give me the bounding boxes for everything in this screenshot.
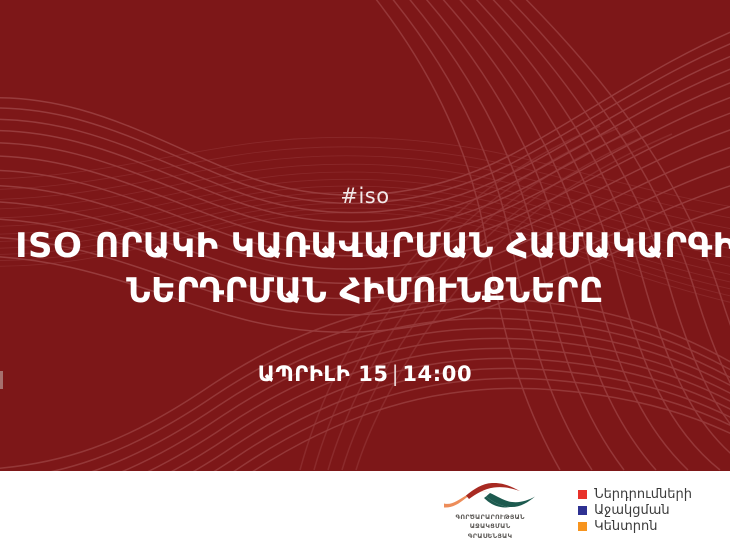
blue-square-icon bbox=[578, 506, 587, 515]
isc-label-1: Ներդրումների bbox=[594, 488, 692, 501]
isc-label-3: Կենտրոն bbox=[594, 520, 657, 533]
wordmark-line-2: ԱՋԱԿՑՄԱՆ bbox=[455, 522, 524, 531]
footer-logo-group: ԳՈՐԾԱՐԱՐՈՒԹՅԱՆ ԱՋԱԿՑՄԱՆ ԳՐԱՍԵՆՅԱԿ Ներդրո… bbox=[430, 480, 730, 540]
wordmark-line-3: ԳՐԱՍԵՆՅԱԿ bbox=[455, 532, 524, 541]
event-datetime: ԱՊՐԻԼԻ 15|14:00 bbox=[258, 364, 472, 385]
investment-support-centre-logo: Ներդրումների Աջակցման Կենտրոն bbox=[578, 488, 692, 534]
footer-bar: ԳՈՐԾԱՐԱՐՈՒԹՅԱՆ ԱՋԱԿՑՄԱՆ ԳՐԱՍԵՆՅԱԿ Ներդրո… bbox=[0, 471, 730, 550]
business-support-office-logo: ԳՈՐԾԱՐԱՐՈՒԹՅԱՆ ԱՋԱԿՑՄԱՆ ԳՐԱՍԵՆՅԱԿ bbox=[430, 480, 550, 540]
event-time: 14:00 bbox=[402, 362, 472, 386]
isc-row-2: Աջակցման bbox=[578, 504, 692, 518]
isc-row-3: Կենտրոն bbox=[578, 520, 692, 534]
red-square-icon bbox=[578, 490, 587, 499]
wordmark-line-1: ԳՈՐԾԱՐԱՐՈՒԹՅԱՆ bbox=[455, 513, 524, 522]
event-announcement-slide: #iso ISO ՈՐԱԿԻ ԿԱՌԱՎԱՐՄԱՆ ՀԱՄԱԿԱՐԳԻ ՆԵՐԴ… bbox=[0, 0, 730, 550]
title-line-2: ՆԵՐԴՐՄԱՆ ՀԻՄՈՒՆՔՆԵՐԸ bbox=[15, 269, 715, 314]
datetime-separator: | bbox=[389, 362, 403, 386]
orange-square-icon bbox=[578, 522, 587, 531]
hashtag-label: #iso bbox=[340, 186, 389, 207]
isc-label-2: Աջակցման bbox=[594, 504, 670, 517]
event-date: ԱՊՐԻԼԻ 15 bbox=[258, 362, 389, 386]
business-support-office-wordmark: ԳՈՐԾԱՐԱՐՈՒԹՅԱՆ ԱՋԱԿՑՄԱՆ ԳՐԱՍԵՆՅԱԿ bbox=[455, 513, 524, 540]
title-line-1: ISO ՈՐԱԿԻ ԿԱՌԱՎԱՐՄԱՆ ՀԱՄԱԿԱՐԳԻ bbox=[15, 224, 715, 269]
isc-row-1: Ներդրումների bbox=[578, 488, 692, 502]
slide-content: #iso ISO ՈՐԱԿԻ ԿԱՌԱՎԱՐՄԱՆ ՀԱՄԱԿԱՐԳԻ ՆԵՐԴ… bbox=[0, 0, 730, 471]
page-title: ISO ՈՐԱԿԻ ԿԱՌԱՎԱՐՄԱՆ ՀԱՄԱԿԱՐԳԻ ՆԵՐԴՐՄԱՆ … bbox=[15, 224, 715, 314]
swoosh-logo-icon bbox=[442, 480, 538, 510]
